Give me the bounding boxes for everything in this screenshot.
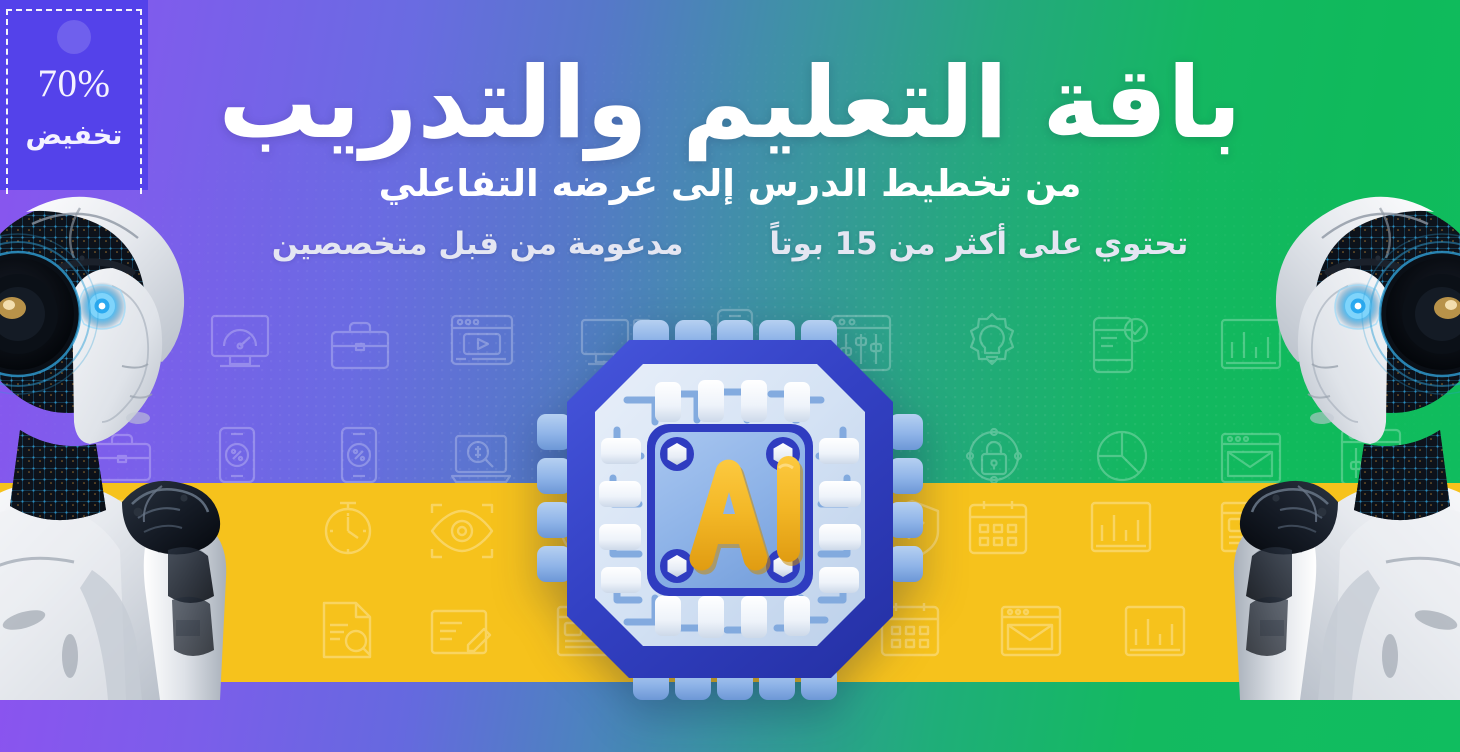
discount-label: تخفيض bbox=[0, 122, 148, 149]
discount-badge[interactable]: 70% تخفيض bbox=[0, 0, 148, 190]
page-title: باقة التعليم والتدريب bbox=[170, 52, 1290, 156]
promo-banner: 70% تخفيض باقة التعليم والتدريب من تخطيط… bbox=[0, 0, 1460, 752]
feature-list: تحتوي على أكثر من 15 بوتاً مدعومة من قبل… bbox=[170, 226, 1290, 263]
discount-percent: 70% bbox=[0, 64, 148, 103]
headline-block: باقة التعليم والتدريب من تخطيط الدرس إلى… bbox=[170, 52, 1290, 264]
feature-item-bots: تحتوي على أكثر من 15 بوتاً bbox=[769, 226, 1188, 263]
feature-item-experts: مدعومة من قبل متخصصين bbox=[272, 226, 684, 263]
page-subtitle: من تخطيط الدرس إلى عرضه التفاعلي bbox=[170, 162, 1290, 206]
ai-chip-illustration bbox=[535, 318, 925, 700]
